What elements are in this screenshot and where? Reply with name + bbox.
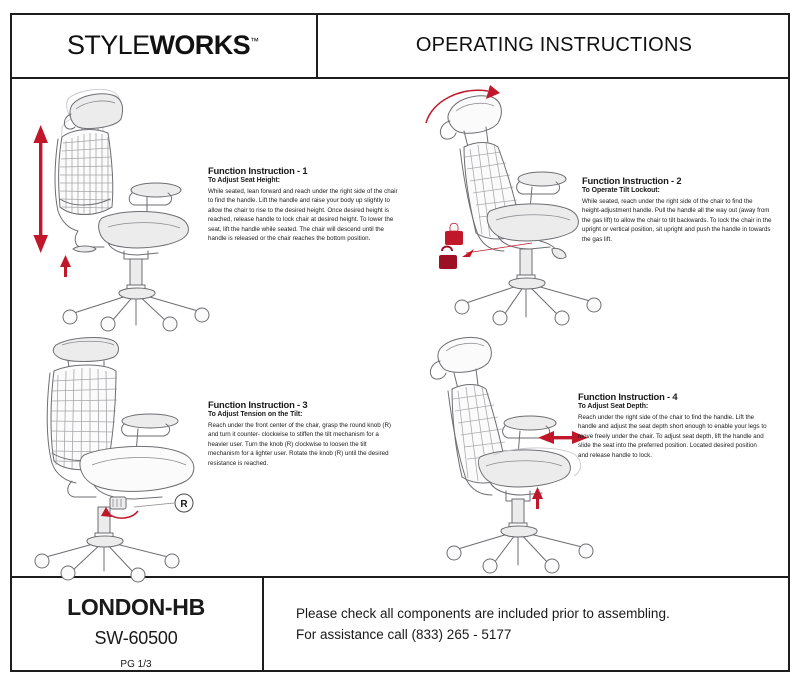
panel-3-body: Reach under the front center of the chai… (208, 421, 398, 468)
instruction-panels: Function Instruction - 1 To Adjust Seat … (10, 79, 790, 578)
product-identity: LONDON-HB SW-60500 PG 1/3 (10, 578, 264, 672)
panel-2: Function Instruction - 2 To Operate Tilt… (400, 79, 790, 329)
up-arrow (532, 487, 543, 509)
knob-label: R (180, 499, 188, 510)
chair-three-quarter-view-tension-knob: R (16, 331, 211, 576)
up-down-arrow (33, 125, 48, 253)
panel-3-text: Function Instruction - 3 To Adjust Tensi… (208, 399, 398, 468)
page-title: OPERATING INSTRUCTIONS (416, 34, 692, 57)
assistance-note: Please check all components are included… (264, 578, 790, 672)
panel-4-text: Function Instruction - 4 To Adjust Seat … (578, 391, 768, 460)
trademark-icon: ™ (250, 36, 259, 46)
knob-callout: R (134, 494, 193, 512)
page-number: PG 1/3 (120, 659, 151, 670)
panel-1: Function Instruction - 1 To Adjust Seat … (10, 79, 400, 329)
panel-4-heading: Function Instruction - 4 (578, 391, 768, 402)
panel-3-subheading: To Adjust Tension on the Tilt: (208, 411, 398, 420)
panel-3: R Function Instruction - 3 To Adjust Ten… (10, 329, 400, 578)
five-star-base (455, 278, 601, 325)
headrest (430, 337, 491, 379)
seat-cushion (487, 204, 578, 241)
note-line-1: Please check all components are included… (296, 604, 790, 625)
handle-paddle (73, 246, 96, 252)
panel-2-subheading: To Operate Tilt Lockout: (582, 187, 772, 196)
document-title-cell: OPERATING INSTRUCTIONS (318, 13, 790, 77)
five-star-base (447, 526, 593, 573)
note-line-2: For assistance call (833) 265 - 5177 (296, 625, 790, 646)
footer: LONDON-HB SW-60500 PG 1/3 Please check a… (10, 578, 790, 672)
instruction-sheet: STYLEWORKS™ OPERATING INSTRUCTIONS (0, 0, 802, 687)
panel-1-heading: Function Instruction - 1 (208, 165, 398, 176)
panel-1-body: While seated, lean forward and reach und… (208, 187, 398, 244)
logo-text-bold: WORKS (150, 30, 251, 60)
handle-knob (552, 248, 566, 258)
panel-3-heading: Function Instruction - 3 (208, 399, 398, 410)
brand-logo: STYLEWORKS™ (67, 30, 259, 61)
panel-2-text: Function Instruction - 2 To Operate Tilt… (582, 175, 772, 244)
headrest (53, 338, 118, 362)
seat-cushion (80, 446, 194, 491)
panel-4-body: Reach under the right side of the chair … (578, 413, 768, 460)
seat-cushion (99, 211, 189, 247)
tension-knob (110, 497, 126, 509)
brand-logo-cell: STYLEWORKS™ (10, 13, 318, 77)
panel-1-subheading: To Adjust Seat Height: (208, 177, 398, 186)
panel-2-body: While seated, reach under the right side… (582, 197, 772, 244)
locked-padlock-icon (445, 223, 463, 245)
header: STYLEWORKS™ OPERATING INSTRUCTIONS (10, 13, 790, 79)
model-name: LONDON-HB (67, 594, 205, 621)
curved-arrow (108, 511, 138, 518)
chair-side-view-seat-depth (406, 331, 601, 576)
panel-4-subheading: To Adjust Seat Depth: (578, 403, 768, 412)
seat-cushion (478, 448, 580, 487)
unlocked-padlock-icon (439, 247, 457, 270)
panel-2-heading: Function Instruction - 2 (582, 175, 772, 186)
panel-1-text: Function Instruction - 1 To Adjust Seat … (208, 165, 398, 243)
five-star-base (35, 536, 179, 582)
five-star-base (63, 288, 209, 331)
headrest (440, 96, 501, 147)
logo-text-thin: STYLE (67, 30, 150, 60)
chair-side-view-height-adjust (16, 81, 211, 326)
headrest (64, 94, 122, 129)
model-sku: SW-60500 (94, 628, 177, 649)
up-arrow (60, 255, 71, 277)
chair-side-view-tilt-lockout (406, 81, 601, 326)
panel-4: Function Instruction - 4 To Adjust Seat … (400, 329, 790, 578)
